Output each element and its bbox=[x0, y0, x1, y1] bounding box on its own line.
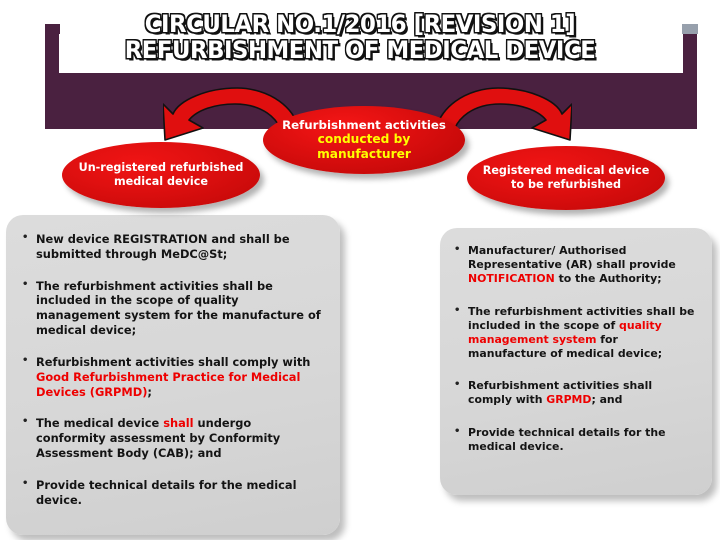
bullet-item: The medical device shall undergo conform… bbox=[22, 416, 324, 460]
ellipse-right-line-1: Registered medical device bbox=[483, 164, 650, 177]
ellipse-right-text: Registered medical device to be refurbis… bbox=[475, 164, 658, 191]
ellipse-left-line-1: Un-registered refurbished bbox=[79, 161, 244, 174]
bullet-text: New device bbox=[36, 232, 113, 246]
bullet-text: ; bbox=[147, 385, 152, 399]
page-title: CIRCULAR NO.1/2016 [REVISION 1] REFURBIS… bbox=[60, 12, 660, 64]
bullet-text: The medical device bbox=[36, 416, 163, 430]
slide-canvas: CIRCULAR NO.1/2016 [REVISION 1] REFURBIS… bbox=[0, 0, 720, 540]
right-requirements-panel: Manufacturer/ Authorised Representative … bbox=[440, 228, 712, 495]
ellipse-center-line-1: Refurbishment activities bbox=[282, 118, 446, 132]
left-bullet-list: New device REGISTRATION and shall be sub… bbox=[6, 215, 340, 508]
bullet-item: Manufacturer/ Authorised Representative … bbox=[454, 244, 698, 287]
left-requirements-panel: New device REGISTRATION and shall be sub… bbox=[6, 215, 340, 535]
bullet-text-highlight: GRPMD bbox=[546, 393, 591, 406]
ellipse-center-text: Refurbishment activities conducted by ma… bbox=[263, 118, 465, 162]
ellipse-left-text: Un-registered refurbished medical device bbox=[71, 161, 252, 188]
ellipse-left-line-2: medical device bbox=[114, 175, 208, 188]
bullet-text-highlight: shall bbox=[163, 416, 193, 430]
ellipse-unregistered-refurbished-device[interactable]: Un-registered refurbished medical device bbox=[62, 142, 260, 208]
ellipse-center-line-2: conducted by manufacturer bbox=[271, 132, 457, 162]
bullet-text: REGISTRATION bbox=[113, 232, 207, 246]
bullet-text: Refurbishment activities shall comply wi… bbox=[36, 355, 310, 369]
banner-cap-left bbox=[45, 24, 60, 34]
ellipse-refurbishment-activities[interactable]: Refurbishment activities conducted by ma… bbox=[263, 106, 465, 174]
bullet-text: to the Authority; bbox=[555, 272, 662, 285]
bullet-item: New device REGISTRATION and shall be sub… bbox=[22, 232, 324, 262]
bullet-item: Provide technical details for the medica… bbox=[22, 478, 324, 508]
bullet-item: Provide technical details for the medica… bbox=[454, 426, 698, 454]
ellipse-registered-device-to-be-refurbished[interactable]: Registered medical device to be refurbis… bbox=[467, 146, 665, 210]
bullet-item: Refurbishment activities shall comply wi… bbox=[454, 379, 698, 407]
bullet-text-highlight: NOTIFICATION bbox=[468, 272, 555, 285]
title-line-1: CIRCULAR NO.1/2016 [REVISION 1] bbox=[75, 12, 645, 38]
bullet-text: Provide technical details for the medica… bbox=[36, 478, 297, 507]
bullet-text: The refurbishment activities shall be in… bbox=[36, 279, 321, 337]
bullet-item: The refurbishment activities shall be in… bbox=[22, 279, 324, 338]
ellipse-right-line-2: to be refurbished bbox=[511, 178, 621, 191]
bullet-item: Refurbishment activities shall comply wi… bbox=[22, 355, 324, 399]
right-bullet-list: Manufacturer/ Authorised Representative … bbox=[440, 228, 712, 454]
bullet-item: The refurbishment activities shall be in… bbox=[454, 305, 698, 362]
bullet-text: ; and bbox=[591, 393, 622, 406]
bullet-text: Manufacturer/ Authorised Representative … bbox=[468, 244, 676, 271]
title-line-2: REFURBISHMENT OF MEDICAL DEVICE bbox=[75, 38, 645, 64]
banner-cap-right bbox=[682, 24, 698, 34]
bullet-text: Provide technical details for the medica… bbox=[468, 426, 665, 453]
bullet-text-highlight: Good Refurbishment Practice for Medical … bbox=[36, 370, 300, 399]
